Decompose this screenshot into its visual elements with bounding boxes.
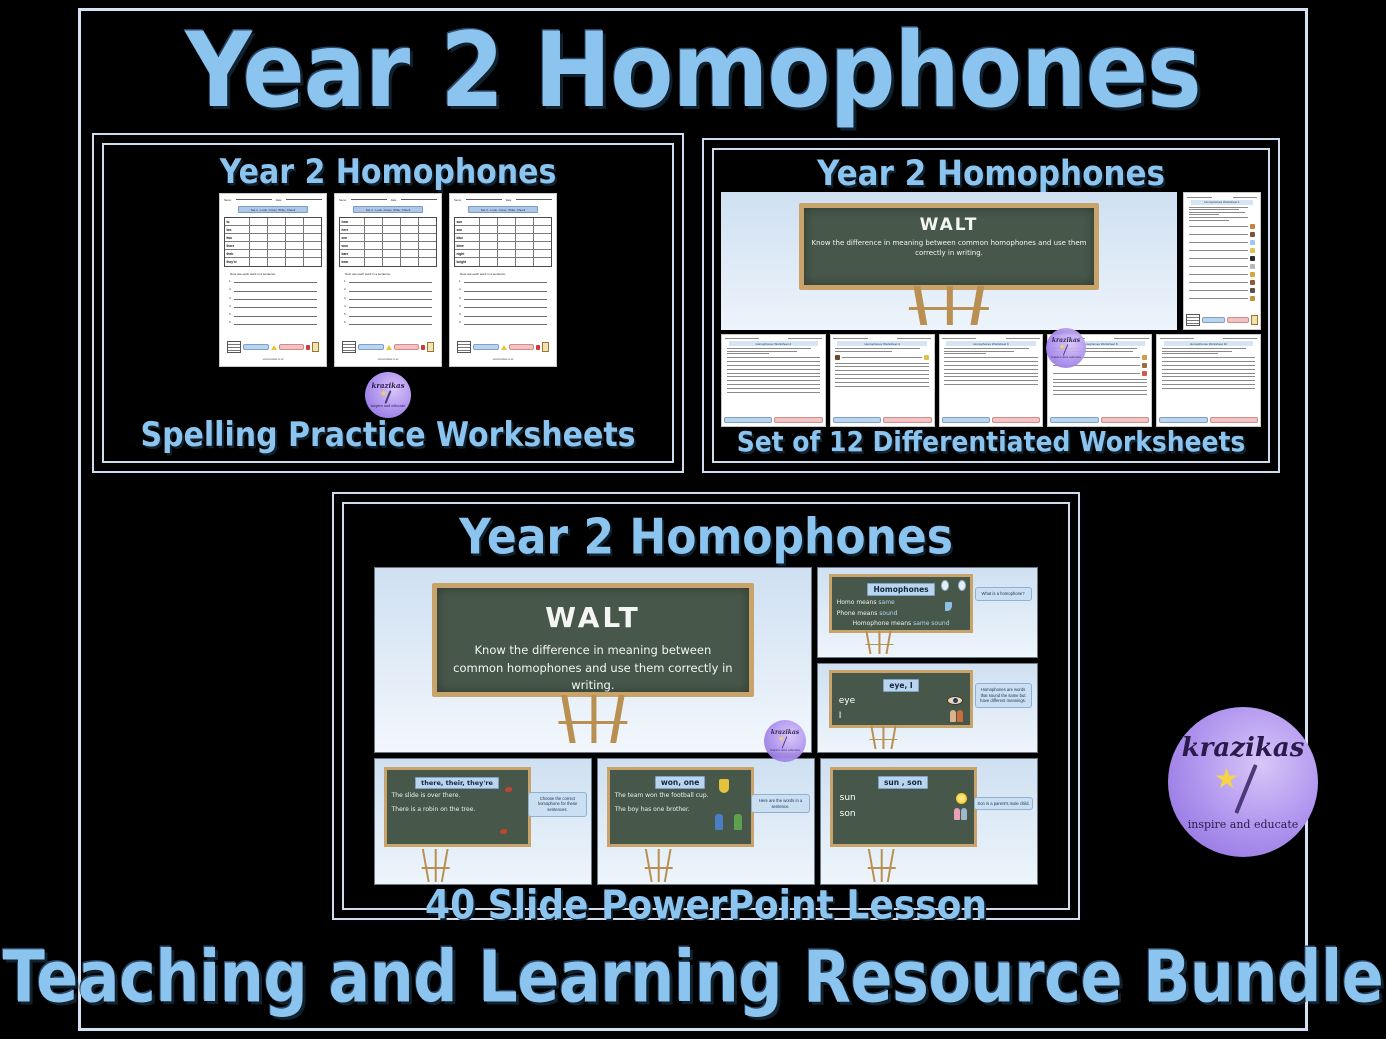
logo-tagline: inspire and educate — [1051, 356, 1081, 359]
worksheet-footer — [224, 341, 322, 355]
table-row: won — [340, 242, 436, 250]
slide-sentence: The team won the football cup. — [610, 791, 751, 801]
differentiated-top-row: WALT Know the difference in meaning betw… — [714, 192, 1268, 330]
spelling-word: here — [340, 226, 365, 233]
line-lead: Homophone means — [853, 620, 912, 627]
easel-legs — [641, 849, 676, 882]
list-item — [1189, 224, 1255, 229]
star-icon: ★ — [1214, 765, 1239, 793]
walt-heading: WALT — [920, 215, 979, 235]
slide-sentence: The boy has one brother. — [610, 805, 751, 815]
slide-column-right: Homophones Homo means same Phone means s… — [817, 567, 1038, 753]
worksheet-heading: Homophones Worksheet 4 — [837, 341, 927, 346]
spelling-word: sun — [455, 218, 480, 225]
table-row: to — [225, 218, 321, 226]
panel-differentiated-worksheets: Year 2 Homophones WALT Know the differen… — [702, 138, 1280, 473]
worksheet-prompt: Now use each word in a sentence: — [230, 272, 322, 276]
slide-won-one[interactable]: won, one The team won the football cup. … — [597, 758, 815, 885]
line-lead: Phone means — [837, 610, 878, 617]
footer-pill-red — [394, 344, 420, 350]
slide-callout: Homophones are words that sound the same… — [975, 683, 1032, 708]
table-row: blue — [455, 234, 551, 242]
footer-pill-blue — [358, 344, 384, 350]
slide-callout: Choose the correct homophone for these s… — [528, 792, 586, 817]
line-number: 3. — [459, 296, 462, 300]
slide-word: I — [839, 711, 842, 721]
name-label: Name: — [224, 199, 232, 202]
worksheet-set-band: Set 3 - Look, Cover, Write, Check — [468, 206, 539, 213]
spelling-worksheet-thumbnail[interactable]: Name: Date: Set 2 - Look, Cover, Write, … — [334, 193, 442, 367]
spelling-word: they're — [225, 258, 250, 266]
spelling-word: night — [455, 250, 480, 257]
easel-legs — [418, 849, 453, 882]
panel-powerpoint-title: Year 2 Homophones — [344, 509, 1068, 566]
spelling-worksheet-row: Name: Date: Set 1 - Look, Cover, Write, … — [104, 190, 672, 370]
worksheet-credit: www.krazikas.co.uk — [339, 358, 437, 361]
slide-word-row: son — [833, 806, 974, 822]
doc-question-list — [1189, 224, 1255, 301]
spelling-word: son — [455, 226, 480, 233]
slide-line: Homophone means same sound — [832, 619, 971, 629]
spelling-word: too — [225, 226, 250, 233]
list-item — [1189, 272, 1255, 277]
slide-eye-i[interactable]: eye, I eye I — [817, 663, 1038, 754]
worksheet-name-date: Name: Date: — [454, 199, 552, 202]
logo-name: krazikas — [371, 382, 404, 389]
logo-tagline: inspire and educate — [371, 405, 405, 408]
easel-legs — [864, 849, 899, 882]
panel-differentiated-inner: Year 2 Homophones WALT Know the differen… — [712, 148, 1270, 463]
spelling-worksheet-thumbnail[interactable]: Name: Date: Set 3 - Look, Cover, Write, … — [449, 193, 557, 367]
worksheet-credit: www.krazikas.co.uk — [454, 358, 552, 361]
panel-powerpoint-lesson: Year 2 Homophones WALT Know the differen… — [332, 492, 1080, 920]
star-icon: ★ — [380, 390, 387, 398]
table-row: sun — [455, 218, 551, 226]
ear-icon — [958, 580, 966, 591]
checklist-icon — [1251, 315, 1258, 325]
line-number: 3. — [229, 296, 232, 300]
slide-grid: WALT Know the difference in meaning betw… — [344, 563, 1068, 885]
slide-word-row: I — [832, 708, 971, 724]
slide-sun-son[interactable]: sun , son sun son — [820, 758, 1038, 885]
worksheet-thumbnail[interactable]: Homophones Worksheet 2 — [721, 334, 826, 427]
line-number: 5. — [459, 312, 462, 316]
slide-homophones[interactable]: Homophones Homo means same Phone means s… — [817, 567, 1038, 658]
line-accent: same sound — [913, 620, 949, 627]
list-item — [1189, 296, 1255, 301]
slide-callout: What is a homophone? — [975, 587, 1032, 601]
walt-chalkboard: WALT Know the difference in meaning betw… — [799, 203, 1100, 290]
mini-chalkboard: sun , son sun son — [830, 767, 977, 847]
line-number: 1. — [229, 279, 232, 283]
panel-powerpoint-caption: 40 Slide PowerPoint Lesson — [344, 883, 1068, 929]
panel-powerpoint-inner: Year 2 Homophones WALT Know the differen… — [342, 502, 1070, 910]
sun-icon — [956, 793, 967, 804]
footer-pill-blue — [1202, 317, 1225, 323]
easel-legs — [899, 286, 999, 325]
wand-icon: ★ — [776, 736, 794, 749]
logo-tagline: inspire and educate — [770, 749, 800, 752]
apple-icon — [536, 345, 540, 350]
table-row: their — [225, 250, 321, 258]
worksheet-name-date: Name: Date: — [339, 199, 437, 202]
date-label: Date: — [276, 199, 282, 202]
worksheet-footer — [1186, 314, 1258, 326]
walt-heading: WALT — [545, 601, 641, 634]
worksheet-credit: www.krazikas.co.uk — [224, 358, 322, 361]
spelling-word: two — [225, 234, 250, 241]
worksheet-prompt: Now use each word in a sentence: — [460, 272, 552, 276]
list-item — [1189, 264, 1255, 269]
panel-spelling-title: Year 2 Homophones — [104, 153, 672, 192]
table-row: here — [340, 226, 436, 234]
slide-callout: Here are the words in a sentence. — [751, 794, 809, 813]
person-icon — [734, 814, 742, 830]
slide-title: won, one — [655, 776, 705, 789]
easel-legs — [862, 631, 897, 654]
line-number: 6. — [459, 320, 462, 324]
list-item — [1189, 256, 1255, 261]
line-lead: Homo means — [837, 599, 877, 606]
spelling-word: knight — [455, 258, 480, 266]
table-row: one — [340, 234, 436, 242]
line-number: 4. — [459, 304, 462, 308]
spelling-worksheet-thumbnail[interactable]: Name: Date: Set 1 - Look, Cover, Write, … — [219, 193, 327, 367]
name-rule — [236, 199, 272, 200]
line-number: 5. — [344, 312, 347, 316]
worksheet-name-date: Name: Date: — [224, 199, 322, 202]
spelling-word: one — [340, 234, 365, 241]
krazikas-brand-logo: krazikas ★ inspire and educate — [1168, 707, 1318, 857]
page-title: Year 2 Homophones — [78, 7, 1308, 132]
table-row: they're — [225, 258, 321, 266]
worksheet-answer-lines: 1. 2. 3. 4. 5. 6. — [339, 279, 437, 324]
trophy-icon — [719, 779, 729, 793]
feature-worksheet-preview[interactable]: Homophones Worksheet 1 — [1183, 192, 1261, 330]
worksheet-answer-lines: 1. 2. 3. 4. 5. 6. — [224, 279, 322, 324]
slide-title: Homophones — [867, 583, 934, 596]
walt-slide-preview[interactable]: WALT Know the difference in meaning betw… — [721, 192, 1177, 330]
slide-word: sun — [840, 793, 856, 803]
line-number: 3. — [344, 296, 347, 300]
spelling-word: there — [225, 242, 250, 249]
bottom-banner: Teaching and Learning Resource Bundle — [80, 923, 1306, 1029]
worksheet-heading: Homophones Worksheet 6 — [946, 341, 1036, 346]
table-row: bare — [340, 250, 436, 258]
spelling-word: their — [225, 250, 250, 257]
differentiated-thumbnail-row: Homophones Worksheet 2 Homophones Worksh… — [714, 330, 1268, 427]
star-icon: ★ — [778, 736, 784, 743]
table-row: hear — [340, 218, 436, 226]
line-accent: same — [878, 599, 894, 606]
footer-pill-blue — [243, 344, 269, 350]
line-number: 1. — [459, 279, 462, 283]
spelling-word: blew — [455, 242, 480, 249]
walt-body: Know the difference in meaning between c… — [804, 238, 1095, 258]
person-icon — [950, 710, 956, 722]
line-accent: sound — [879, 610, 897, 617]
list-item — [1189, 232, 1255, 237]
panel-differentiated-title: Year 2 Homophones — [714, 154, 1268, 194]
slide-sentence: The slide is over there. — [387, 791, 528, 801]
name-label: Name: — [339, 199, 347, 202]
worksheet-thumbnail[interactable]: Homophones Worksheet 6 — [939, 334, 1044, 427]
spelling-word: hear — [340, 218, 365, 225]
footer-pill-blue — [473, 344, 499, 350]
worksheet-thumbnail[interactable]: Homophones Worksheet 10 — [1156, 334, 1261, 427]
table-row: son — [455, 226, 551, 234]
worksheet-footer — [339, 341, 437, 355]
line-number: 6. — [344, 320, 347, 324]
table-row: two — [225, 234, 321, 242]
worksheet-heading: Homophones Worksheet 1 — [1191, 200, 1253, 205]
spelling-word: to — [225, 218, 250, 225]
footer-pill-red — [1227, 317, 1250, 323]
bird-icon — [505, 787, 512, 792]
worksheet-set-band: Set 2 - Look, Cover, Write, Check — [353, 206, 424, 213]
easel-legs — [866, 726, 901, 749]
worksheet-answer-lines: 1. 2. 3. 4. 5. 6. — [454, 279, 552, 324]
slide-title: there, their, they're — [415, 777, 499, 789]
spelling-word: blue — [455, 234, 480, 241]
walt-body: Know the difference in meaning between c… — [437, 642, 749, 695]
checklist-icon — [312, 342, 319, 352]
slide-word-row: eye — [832, 694, 971, 708]
slide-sentence: There is a robin on the tree. — [387, 805, 528, 815]
line-number: 2. — [344, 287, 347, 291]
table-row: night — [455, 250, 551, 258]
spelling-table: hear here one won bare bear — [339, 217, 437, 267]
person-icon — [954, 808, 960, 820]
slide-title: eye, I — [883, 679, 918, 692]
worksheet-footer — [454, 341, 552, 355]
doc-header — [1187, 197, 1257, 198]
date-rule — [286, 199, 322, 200]
self-assessment-grid — [342, 341, 356, 353]
date-label: Date: — [391, 199, 397, 202]
slide-there-their-theyre[interactable]: there, their, they're The slide is over … — [374, 758, 592, 885]
footer-pill-red — [509, 344, 535, 350]
apple-icon — [421, 345, 425, 350]
worksheet-heading: Homophones Worksheet 10 — [1164, 341, 1254, 346]
krazikas-logo-overlay: krazikas ★ inspire and educate — [1046, 328, 1086, 368]
slide-word: eye — [839, 696, 855, 706]
panel-spelling-practice-inner: Year 2 Homophones Name: Date: Set 1 - Lo… — [102, 143, 674, 463]
mini-chalkboard: eye, I eye I — [829, 670, 974, 728]
speaker-icon — [945, 602, 952, 611]
table-row: bear — [340, 258, 436, 266]
wand-icon: ★ — [1057, 344, 1075, 356]
wand-icon: ★ — [378, 390, 398, 404]
walt-chalkboard: WALT Know the difference in meaning betw… — [432, 583, 754, 697]
slide-grid-top: WALT Know the difference in meaning betw… — [374, 567, 1038, 753]
checklist-icon — [427, 342, 434, 352]
walt-slide-preview-large[interactable]: WALT Know the difference in meaning betw… — [374, 567, 812, 753]
line-number: 4. — [344, 304, 347, 308]
slide-callout: Son is a parent's male child. — [974, 797, 1032, 811]
doc-paragraph — [1189, 217, 1255, 220]
line-number: 4. — [229, 304, 232, 308]
star-icon: ★ — [1059, 344, 1065, 351]
spelling-word: bare — [340, 250, 365, 257]
panel-spelling-caption: Spelling Practice Worksheets — [104, 416, 672, 455]
name-label: Name: — [454, 199, 462, 202]
spelling-table: to too two there their they're — [224, 217, 322, 267]
table-row: there — [225, 242, 321, 250]
doc-paragraph — [1189, 207, 1255, 215]
ear-icon — [941, 580, 949, 591]
apple-icon — [306, 345, 310, 350]
resource-cover: Year 2 Homophones Year 2 Homophones Name… — [0, 0, 1386, 1039]
worksheet-thumbnail[interactable]: Homophones Worksheet 4 — [830, 334, 935, 427]
slide-word-row: sun — [833, 791, 974, 806]
list-item — [1189, 240, 1255, 245]
worksheet-heading: Homophones Worksheet 2 — [729, 341, 819, 346]
worksheet-prompt: Now use each word in a sentence: — [345, 272, 437, 276]
eye-icon — [947, 696, 963, 705]
checklist-icon — [542, 342, 549, 352]
panel-spelling-practice: Year 2 Homophones Name: Date: Set 1 - Lo… — [92, 133, 684, 473]
line-number: 6. — [229, 320, 232, 324]
table-row: knight — [455, 258, 551, 266]
mini-chalkboard: there, their, they're The slide is over … — [384, 767, 531, 847]
self-assessment-grid — [457, 341, 471, 353]
line-number: 5. — [229, 312, 232, 316]
person-icon — [961, 808, 967, 820]
slide-word: son — [840, 809, 856, 819]
date-label: Date: — [506, 199, 512, 202]
footer-pill-red — [279, 344, 305, 350]
list-item — [1189, 248, 1255, 253]
slide-title: sun , son — [878, 776, 928, 789]
spelling-word: won — [340, 242, 365, 249]
self-assessment-grid — [1186, 314, 1200, 326]
self-assessment-grid — [227, 341, 241, 353]
logo-name: krazikas — [1182, 735, 1305, 761]
line-number: 2. — [229, 287, 232, 291]
list-item — [1189, 288, 1255, 293]
mini-chalkboard: won, one The team won the football cup. … — [607, 767, 754, 847]
list-item — [1189, 280, 1255, 285]
krazikas-logo: krazikas ★ inspire and educate — [365, 372, 411, 418]
warning-icon — [386, 345, 392, 350]
person-icon — [957, 710, 963, 722]
line-number: 1. — [344, 279, 347, 283]
easel-legs — [549, 695, 636, 743]
table-row: blew — [455, 242, 551, 250]
slide-grid-bottom: there, their, they're The slide is over … — [374, 758, 1038, 885]
spelling-word: bear — [340, 258, 365, 266]
warning-icon — [501, 345, 507, 350]
wand-icon: ★ — [1210, 763, 1276, 815]
person-icon — [715, 814, 723, 830]
table-row: too — [225, 226, 321, 234]
krazikas-logo-overlay: krazikas ★ inspire and educate — [764, 720, 806, 762]
line-number: 2. — [459, 287, 462, 291]
panel-differentiated-caption: Set of 12 Differentiated Worksheets — [714, 425, 1268, 457]
logo-tagline: inspire and educate — [1188, 819, 1299, 830]
spelling-table: sun son blue blew night knight — [454, 217, 552, 267]
warning-icon — [271, 345, 277, 350]
worksheet-set-band: Set 1 - Look, Cover, Write, Check — [238, 206, 309, 213]
